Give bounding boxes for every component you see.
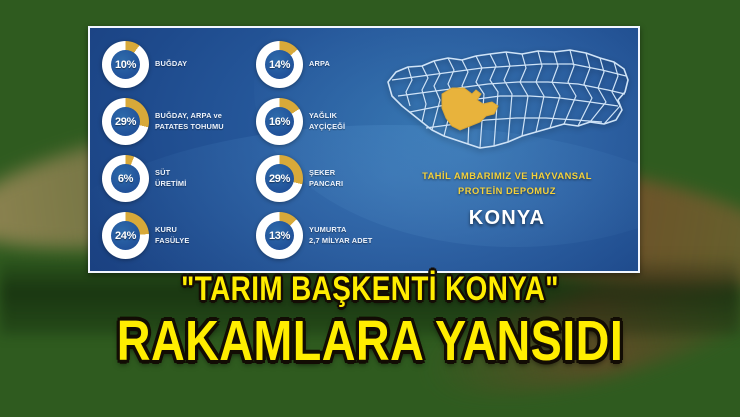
donut-percent: 29% — [115, 116, 136, 128]
stat-item-bugday-arpa-patates: 29% BUĞDAY, ARPA ve PATATES TOHUMU — [102, 93, 247, 150]
donut-percent: 13% — [269, 230, 290, 242]
headline-block: "TARIM BAŞKENTİ KONYA" RAKAMLARA YANSIDI — [0, 272, 740, 370]
donut-percent: 10% — [115, 59, 136, 71]
stat-item-sut-uretimi: 6% SÜT ÜRETİMİ — [102, 150, 247, 207]
screenshot-stage: 10% BUĞDAY 29% BUĞDAY, ARPA ve PATATES T… — [0, 0, 740, 417]
stat-label-sub: FASÜLYE — [155, 236, 189, 247]
stat-label: BUĞDAY — [155, 59, 187, 70]
donut-chart-sut-uretimi: 6% — [102, 155, 149, 202]
stat-label-sub: PANCARI — [309, 179, 343, 190]
map-caption: TAHİL AMBARIMIZ VE HAYVANSAL PROTEİN DEP… — [382, 169, 632, 230]
donut-chart-kuru-fasulye: 24% — [102, 212, 149, 259]
stat-item-seker-pancari: 29% ŞEKER PANCARI — [256, 150, 401, 207]
stat-label-sub: ÜRETİMİ — [155, 179, 186, 190]
stat-label-sub: 2,7 MİLYAR ADET — [309, 236, 372, 247]
stat-label-main: YAĞLIK — [309, 111, 337, 120]
donut-percent: 29% — [269, 173, 290, 185]
stat-label: YUMURTA 2,7 MİLYAR ADET — [309, 225, 372, 246]
donut-percent: 16% — [269, 116, 290, 128]
stat-item-yaglik-aycicegi: 16% YAĞLIK AYÇİÇEĞİ — [256, 93, 401, 150]
donut-percent: 24% — [115, 230, 136, 242]
stat-label-sub: AYÇİÇEĞİ — [309, 122, 345, 133]
donut-percent: 14% — [269, 59, 290, 71]
stat-label: ARPA — [309, 59, 330, 70]
donut-percent: 6% — [118, 173, 133, 185]
headline-line-1: "TARIM BAŞKENTİ KONYA" — [67, 272, 674, 307]
stat-label-main: KURU — [155, 225, 177, 234]
donut-chart-arpa: 14% — [256, 41, 303, 88]
caption-line-2: PROTEİN DEPOMUZ — [382, 184, 632, 199]
map-area: TAHİL AMBARIMIZ VE HAYVANSAL PROTEİN DEP… — [382, 34, 632, 266]
stat-label: BUĞDAY, ARPA ve PATATES TOHUMU — [155, 111, 224, 132]
stat-label-main: YUMURTA — [309, 225, 346, 234]
caption-line-1: TAHİL AMBARIMIZ VE HAYVANSAL — [382, 169, 632, 184]
infographic-panel: 10% BUĞDAY 29% BUĞDAY, ARPA ve PATATES T… — [88, 26, 640, 273]
headline-line-2: RAKAMLARA YANSIDI — [67, 313, 674, 370]
stats-column-right: 14% ARPA 16% YAĞLIK AYÇİÇEĞİ — [256, 36, 401, 264]
donut-chart-yaglik-aycicegi: 16% — [256, 98, 303, 145]
stat-item-arpa: 14% ARPA — [256, 36, 401, 93]
stat-label-main: SÜT — [155, 168, 170, 177]
stat-label: ŞEKER PANCARI — [309, 168, 343, 189]
stat-label-sub: PATATES TOHUMU — [155, 122, 224, 133]
stat-label: SÜT ÜRETİMİ — [155, 168, 186, 189]
caption-city-name: KONYA — [382, 207, 632, 230]
stat-label: KURU FASÜLYE — [155, 225, 189, 246]
stat-label-main: ARPA — [309, 59, 330, 68]
donut-chart-bugday: 10% — [102, 41, 149, 88]
stats-column-left: 10% BUĞDAY 29% BUĞDAY, ARPA ve PATATES T… — [102, 36, 247, 264]
stats-grid: 10% BUĞDAY 29% BUĞDAY, ARPA ve PATATES T… — [96, 36, 386, 264]
stat-label-main: BUĞDAY — [155, 59, 187, 68]
turkey-map-icon — [382, 36, 632, 166]
stat-label-main: BUĞDAY, ARPA ve — [155, 111, 222, 120]
konya-highlight — [442, 88, 498, 130]
stat-item-yumurta: 13% YUMURTA 2,7 MİLYAR ADET — [256, 207, 401, 264]
stat-label: YAĞLIK AYÇİÇEĞİ — [309, 111, 345, 132]
stat-item-bugday: 10% BUĞDAY — [102, 36, 247, 93]
donut-chart-seker-pancari: 29% — [256, 155, 303, 202]
donut-chart-bugday-arpa-patates: 29% — [102, 98, 149, 145]
stat-item-kuru-fasulye: 24% KURU FASÜLYE — [102, 207, 247, 264]
stat-label-main: ŞEKER — [309, 168, 335, 177]
donut-chart-yumurta: 13% — [256, 212, 303, 259]
